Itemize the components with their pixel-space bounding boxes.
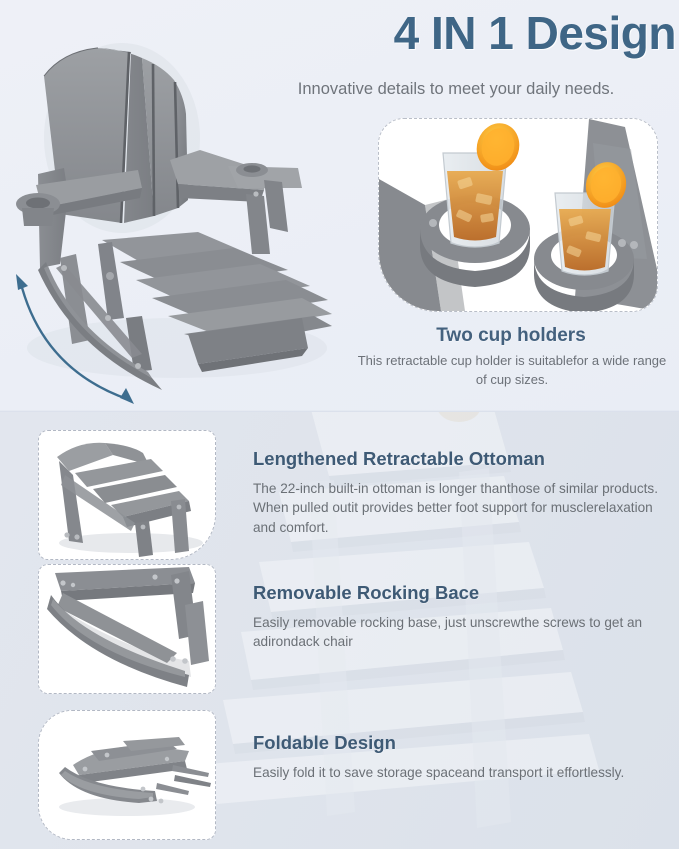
hero-section: 4 IN 1 Design Innovative details to meet…	[0, 0, 679, 412]
cup-holder-title: Two cup holders	[356, 325, 666, 347]
feature-foldable-text: Foldable Design Easily fold it to save s…	[253, 732, 661, 782]
cup-holder-description: This retractable cup holder is suitablef…	[356, 352, 668, 390]
feature-rocking-base-text: Removable Rocking Bace Easily removable …	[253, 582, 661, 652]
feature-foldable-title: Foldable Design	[253, 732, 661, 754]
features-section: Lengthened Retractable Ottoman The 22-in…	[0, 412, 679, 849]
feature-rocking-base-thumbnail	[38, 564, 216, 694]
feature-ottoman-thumbnail	[38, 430, 216, 560]
infographic-page: 4 IN 1 Design Innovative details to meet…	[0, 0, 679, 849]
feature-rocking-base-description: Easily removable rocking base, just unsc…	[253, 613, 661, 652]
feature-ottoman-text: Lengthened Retractable Ottoman The 22-in…	[253, 448, 661, 537]
page-title: 4 IN 1 Design	[236, 8, 676, 59]
cup-holder-photo	[378, 118, 658, 312]
feature-ottoman-description: The 22-inch built-in ottoman is longer t…	[253, 479, 661, 537]
hero-chair-image	[2, 18, 342, 408]
feature-rocking-base-title: Removable Rocking Bace	[253, 582, 661, 604]
feature-ottoman-title: Lengthened Retractable Ottoman	[253, 448, 661, 470]
feature-foldable-description: Easily fold it to save storage spaceand …	[253, 763, 661, 782]
feature-foldable-thumbnail	[38, 710, 216, 840]
page-subtitle: Innovative details to meet your daily ne…	[236, 80, 676, 99]
